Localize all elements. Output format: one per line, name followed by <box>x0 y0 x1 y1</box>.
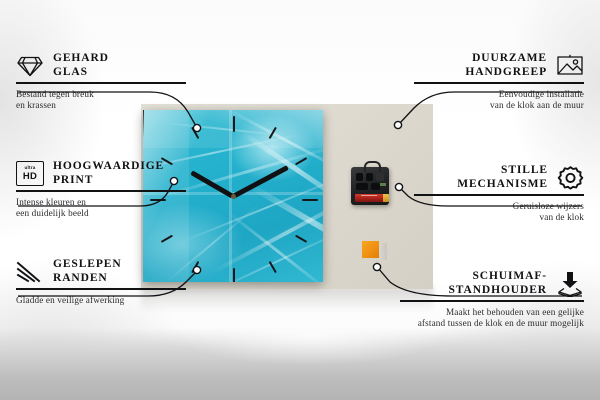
clock-tick <box>295 235 307 243</box>
feature-description: Intense kleuren en een duidelijk beeld <box>16 197 186 219</box>
clock-tick <box>233 116 235 132</box>
feature-gehard-glas[interactable]: GEHARD GLAS Bestand tegen breuk en krass… <box>16 52 186 111</box>
feature-hoogwaardige-print[interactable]: ultra HD HOOGWAARDIGE PRINT Intense kleu… <box>16 160 186 219</box>
feature-divider <box>414 194 584 196</box>
movement-detail <box>366 173 373 181</box>
gear-icon <box>557 165 584 191</box>
clock-center-cap <box>231 194 236 199</box>
feature-divider <box>16 190 186 192</box>
feature-divider <box>414 82 584 84</box>
feature-head: ultra HD HOOGWAARDIGE PRINT <box>16 160 186 187</box>
feature-description: Geruisloze wijzers van de klok <box>414 201 584 223</box>
feature-divider <box>400 300 584 302</box>
feature-description: Maakt het behouden van een gelijke afsta… <box>400 307 584 329</box>
press-down-icon <box>556 271 584 297</box>
feature-description: Eenvoudige installatie van de klok aan d… <box>414 89 584 111</box>
diamond-icon <box>16 54 44 78</box>
foam-spacer-shadow <box>379 243 387 260</box>
feature-geslepen-randen[interactable]: GESLEPEN RANDEN Gladde en veilige afwerk… <box>16 258 186 306</box>
feature-divider <box>16 288 186 290</box>
feature-head: GESLEPEN RANDEN <box>16 258 186 285</box>
feature-title: GEHARD GLAS <box>53 52 109 79</box>
feature-stille-mechanisme[interactable]: STILLE MECHANISME Geruisloze wijzers van… <box>414 164 584 223</box>
floor-glow <box>120 330 500 400</box>
clock-tick <box>233 268 235 282</box>
feature-title: SCHUIMAF- STANDHOUDER <box>448 270 547 297</box>
movement-label <box>380 183 386 186</box>
feature-title: DUURZAME HANDGREEP <box>465 52 547 79</box>
feature-divider <box>16 82 186 84</box>
infographic-stage: GEHARD GLAS Bestand tegen breuk en krass… <box>0 0 600 400</box>
feature-head: SCHUIMAF- STANDHOUDER <box>400 270 584 297</box>
feature-title: GESLEPEN RANDEN <box>53 258 122 285</box>
battery-stripe <box>361 195 377 196</box>
movement-hanger-icon <box>364 161 381 172</box>
feature-description: Bestand tegen breuk en krassen <box>16 89 186 111</box>
feature-description: Gladde en veilige afwerking <box>16 295 186 306</box>
movement-detail <box>356 173 363 181</box>
picture-frame-icon <box>556 54 584 77</box>
feature-head: GEHARD GLAS <box>16 52 186 79</box>
movement-detail <box>376 173 384 181</box>
feature-head: STILLE MECHANISME <box>414 164 584 191</box>
battery-terminal <box>383 194 389 202</box>
movement-detail <box>371 183 380 190</box>
feature-schuimaf-standhouder[interactable]: SCHUIMAF- STANDHOUDER Maakt het behouden… <box>400 270 584 329</box>
clock-tick <box>302 199 318 201</box>
feature-head: DUURZAME HANDGREEP <box>414 52 584 79</box>
clock-tick <box>191 261 199 273</box>
feature-title: STILLE MECHANISME <box>457 164 548 191</box>
feature-title: HOOGWAARDIGE PRINT <box>53 160 164 187</box>
movement-detail <box>356 183 368 190</box>
battery <box>355 194 386 202</box>
beveled-edges-icon <box>16 260 44 284</box>
foam-spacer <box>362 241 379 258</box>
ultra-hd-icon: ultra HD <box>16 161 44 186</box>
feature-duurzame-handgreep[interactable]: DUURZAME HANDGREEP Eenvoudige installati… <box>414 52 584 111</box>
clock-movement <box>351 167 389 205</box>
